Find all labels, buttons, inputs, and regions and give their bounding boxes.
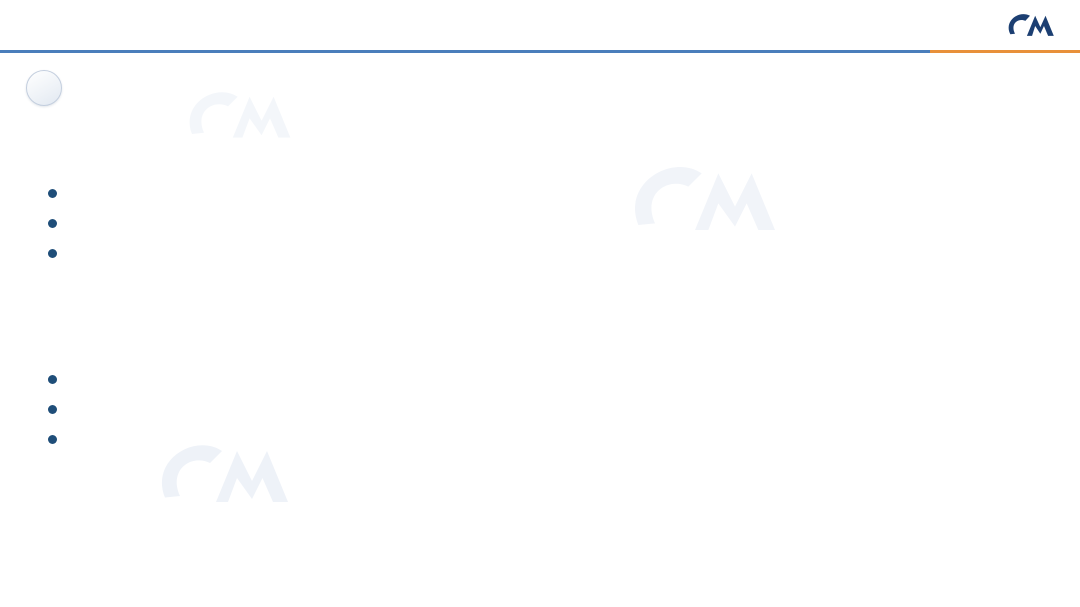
bullet-group-ytd	[48, 378, 68, 468]
chart-svg	[530, 308, 1070, 530]
list-item	[48, 378, 68, 387]
watermark-logo-icon	[150, 430, 300, 520]
list-item	[48, 192, 68, 201]
chart-svg	[530, 84, 1070, 234]
bullet-group-july	[48, 192, 68, 282]
header-divider-blue-segment	[0, 50, 930, 53]
chart-plot-area	[530, 308, 1070, 530]
header-divider	[0, 50, 1080, 53]
section-number-badge	[26, 70, 62, 106]
slide-canvas	[0, 0, 1080, 607]
list-item	[48, 408, 68, 417]
chart-plot-area	[530, 84, 1070, 234]
caam-logo-icon	[1003, 10, 1057, 40]
bullet-dot-icon	[48, 375, 57, 384]
list-item	[48, 438, 68, 447]
watermark-logo-icon	[180, 80, 300, 152]
chart-brand-share-by-origin	[530, 308, 1070, 556]
section-heading	[26, 70, 74, 106]
bullet-dot-icon	[48, 189, 57, 198]
brand-logo	[1003, 10, 1066, 40]
bullet-dot-icon	[48, 435, 57, 444]
list-item	[48, 222, 68, 231]
bullet-dot-icon	[48, 249, 57, 258]
list-item	[48, 252, 68, 261]
chart-brand-share-monthly	[530, 84, 1070, 284]
bullet-dot-icon	[48, 219, 57, 228]
header-divider-orange-segment	[930, 50, 1080, 53]
bullet-dot-icon	[48, 405, 57, 414]
